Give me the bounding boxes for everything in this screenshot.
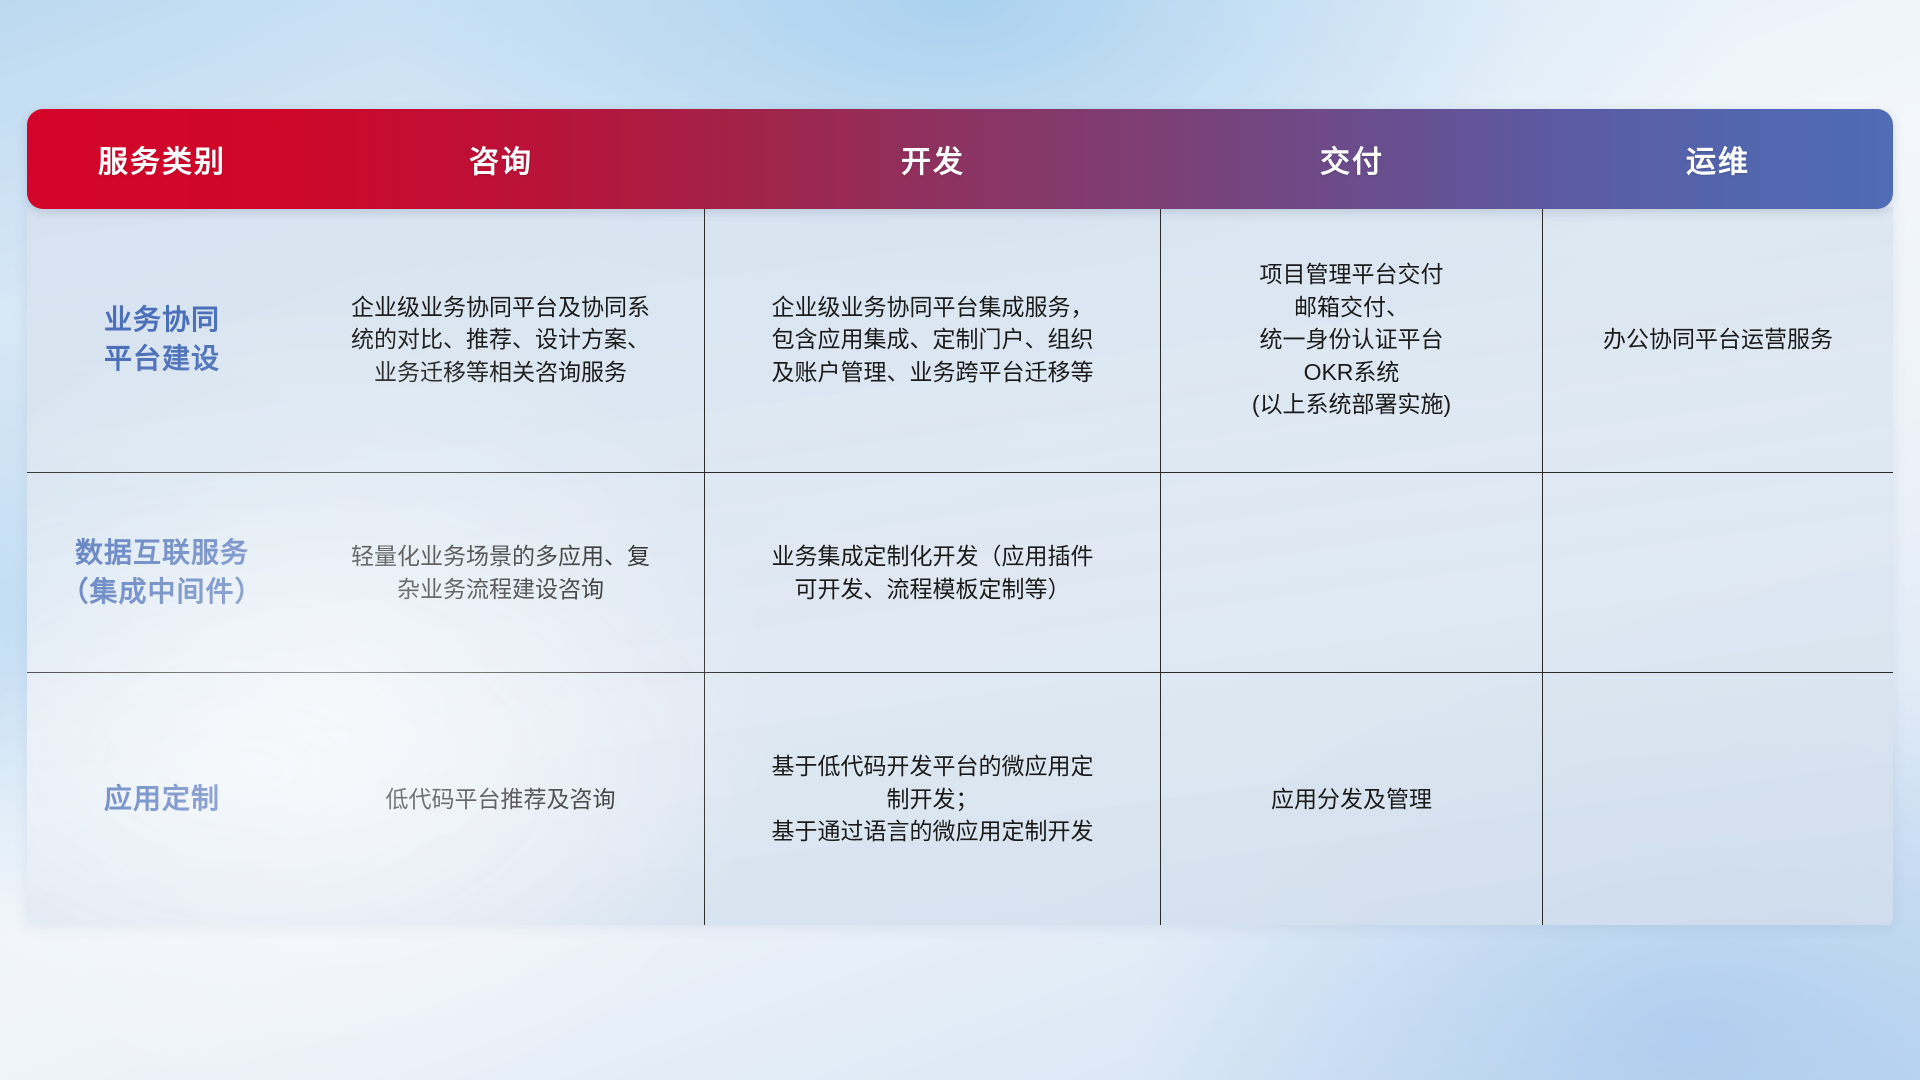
cell-operations (1543, 473, 1893, 672)
cell-consulting: 企业级业务协同平台及协同系 统的对比、推荐、设计方案、 业务迁移等相关咨询服务 (297, 207, 705, 472)
column-header-label: 服务类别 (98, 137, 226, 181)
cell-development: 基于低代码开发平台的微应用定 制开发； 基于通过语言的微应用定制开发 (705, 673, 1161, 925)
row-category-label: 业务协同 平台建设 (27, 207, 297, 472)
column-header-development: 开发 (705, 109, 1161, 209)
row-category-label: 数据互联服务 （集成中间件） (27, 473, 297, 672)
service-category-table: 服务类别 咨询 开发 交付 运维 业务协同 平台建设 企业级业务协同平台及协同系… (27, 109, 1893, 925)
column-header-operations: 运维 (1543, 109, 1893, 209)
cell-consulting: 低代码平台推荐及咨询 (297, 673, 705, 925)
column-header-label: 交付 (1320, 137, 1384, 181)
column-header-label: 咨询 (469, 137, 533, 181)
cell-delivery: 项目管理平台交付 邮箱交付、 统一身份认证平台 OKR系统 (以上系统部署实施) (1161, 207, 1543, 472)
column-header-consulting: 咨询 (297, 109, 705, 209)
table-header-row: 服务类别 咨询 开发 交付 运维 (27, 109, 1893, 209)
cell-delivery: 应用分发及管理 (1161, 673, 1543, 925)
table-body: 业务协同 平台建设 企业级业务协同平台及协同系 统的对比、推荐、设计方案、 业务… (27, 207, 1893, 925)
cell-development: 企业级业务协同平台集成服务， 包含应用集成、定制门户、组织 及账户管理、业务跨平… (705, 207, 1161, 472)
column-header-label: 开发 (901, 137, 965, 181)
cell-development: 业务集成定制化开发（应用插件 可开发、流程模板定制等） (705, 473, 1161, 672)
table-row: 数据互联服务 （集成中间件） 轻量化业务场景的多应用、复 杂业务流程建设咨询 业… (27, 473, 1893, 673)
table-row: 业务协同 平台建设 企业级业务协同平台及协同系 统的对比、推荐、设计方案、 业务… (27, 207, 1893, 473)
cell-operations (1543, 673, 1893, 925)
column-header-delivery: 交付 (1161, 109, 1543, 209)
slide-canvas: 服务类别 咨询 开发 交付 运维 业务协同 平台建设 企业级业务协同平台及协同系… (0, 0, 1920, 1080)
column-header-label: 运维 (1686, 137, 1750, 181)
cell-consulting: 轻量化业务场景的多应用、复 杂业务流程建设咨询 (297, 473, 705, 672)
row-category-label: 应用定制 (27, 673, 297, 925)
cell-operations: 办公协同平台运营服务 (1543, 207, 1893, 472)
column-header-service-category: 服务类别 (27, 109, 297, 209)
table-row: 应用定制 低代码平台推荐及咨询 基于低代码开发平台的微应用定 制开发； 基于通过… (27, 673, 1893, 925)
cell-delivery (1161, 473, 1543, 672)
